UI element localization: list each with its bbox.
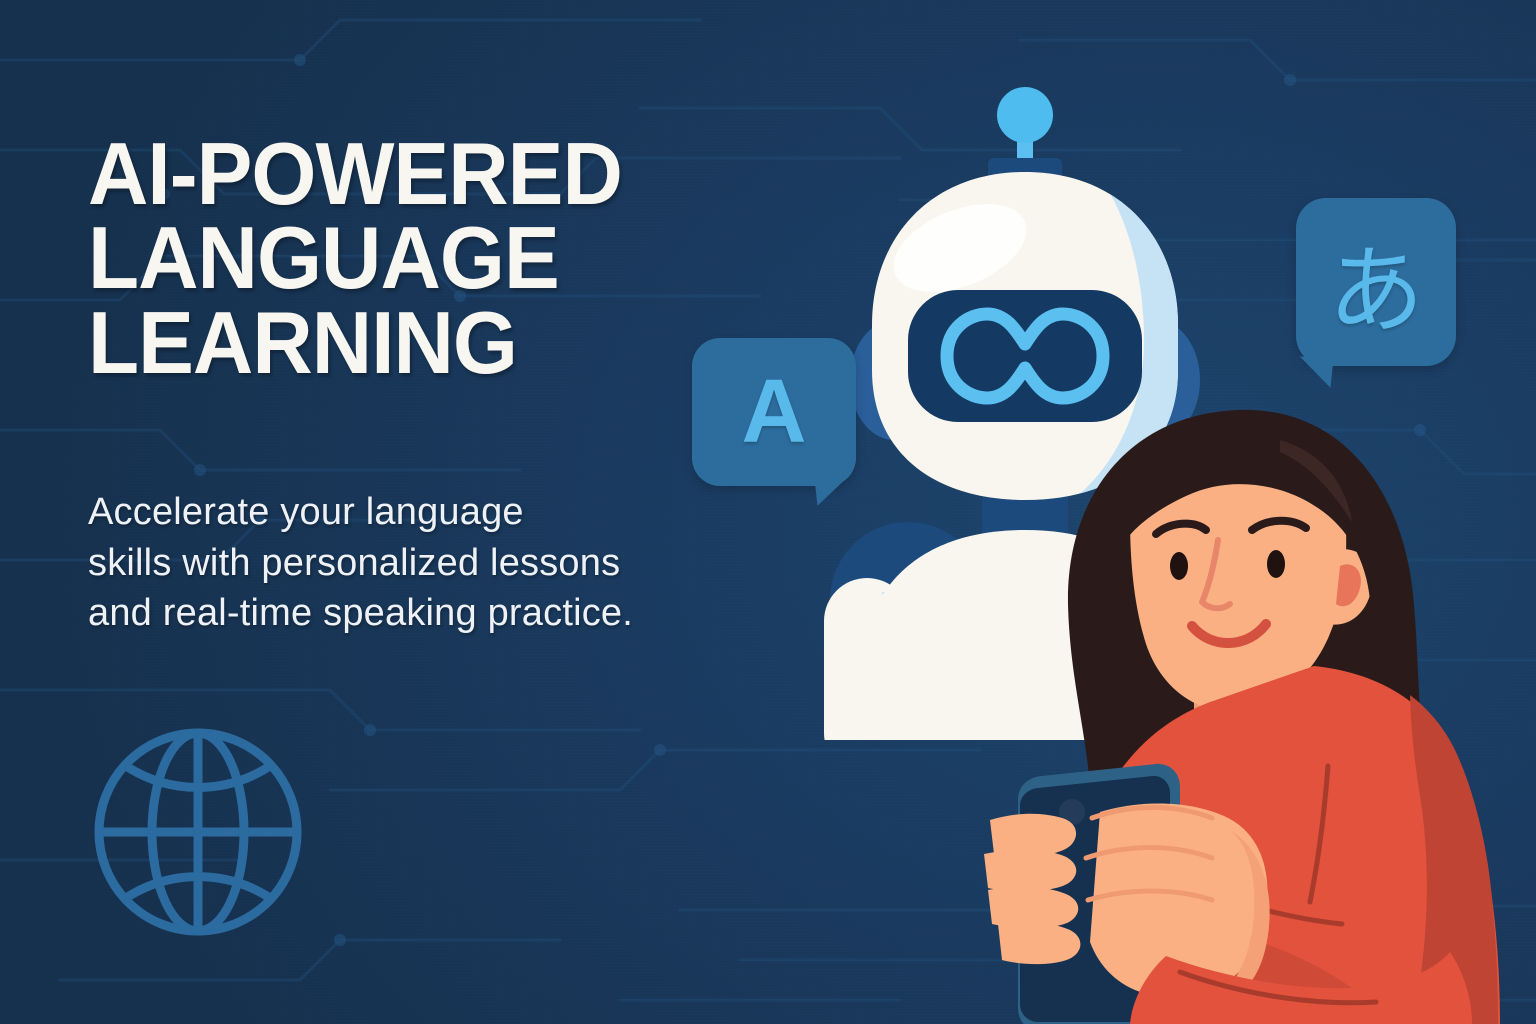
headline-block: AI-POWERED LANGUAGE LEARNING	[88, 132, 788, 385]
headline-line-1: AI-POWERED	[88, 132, 753, 216]
headline-line-2: LANGUAGE	[88, 216, 753, 300]
globe-icon	[92, 726, 304, 938]
eye-left	[1170, 552, 1188, 580]
woman-with-phone-illustration	[980, 400, 1536, 1024]
subtitle-line-1: Accelerate your language	[88, 487, 788, 538]
subtitle-line-2: skills with personalized lessons	[88, 538, 788, 589]
banner-canvas: A あ AI-POWERED LANGUAGE LEARNING Acceler…	[0, 0, 1536, 1024]
page-title: AI-POWERED LANGUAGE LEARNING	[88, 132, 753, 385]
eye-right	[1267, 550, 1285, 578]
bubble-glyph-japanese: あ	[1296, 198, 1456, 366]
speech-bubble-japanese-letter: あ	[1296, 198, 1456, 366]
headline-line-3: LEARNING	[88, 301, 753, 385]
subtitle-line-3: and real-time speaking practice.	[88, 588, 788, 639]
subtitle: Accelerate your language skills with per…	[88, 487, 788, 639]
